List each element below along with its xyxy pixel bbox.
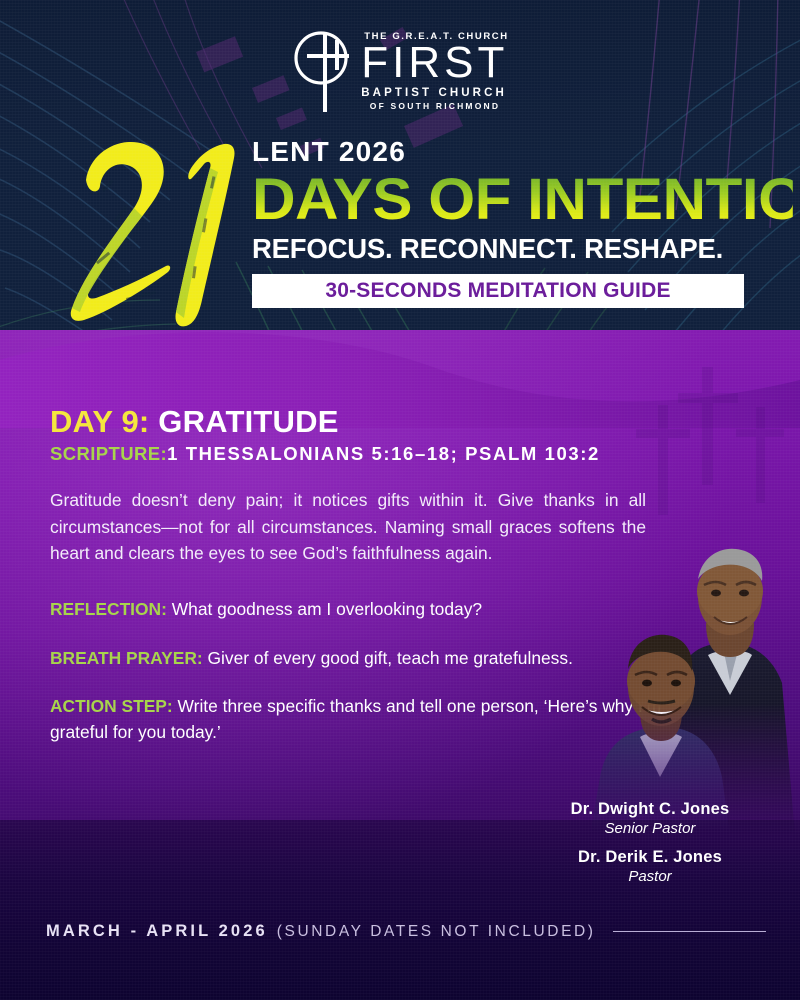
devotional-content: DAY 9: GRATITUDE SCRIPTURE:1 THESSALONIA… [50, 405, 670, 745]
breath-prayer-text: Giver of every good gift, teach me grate… [208, 648, 573, 668]
pastor-name-1: Dr. Dwight C. Jones [520, 800, 780, 819]
scripture-label: SCRIPTURE: [50, 443, 167, 464]
meditation-banner: 30-SECONDS MEDITATION GUIDE [252, 274, 744, 308]
pastor-name-2: Dr. Derik E. Jones [520, 848, 780, 867]
devotional-paragraph: Gratitude doesn’t deny pain; it notices … [50, 487, 646, 566]
meditation-banner-text: 30-SECONDS MEDITATION GUIDE [325, 279, 670, 303]
reflection-text: What goodness am I overlooking today? [172, 599, 482, 619]
pastor-role-1: Senior Pastor [520, 820, 780, 837]
main-title: DAYS OF INTENTION [252, 170, 793, 229]
logo-line3: OF SOUTH RICHMOND [370, 101, 500, 111]
pastor-photos [590, 505, 800, 835]
logo-name: FIRST [361, 43, 508, 83]
footer-rule [613, 931, 766, 933]
scripture-reference: 1 THESSALONIANS 5:16–18; PSALM 103:2 [167, 443, 600, 464]
section-reflection: REFLECTION: What goodness am I overlooki… [50, 596, 670, 622]
poster: THE G.R.E.A.T. CHURCH FIRST BAPTIST CHUR… [0, 0, 800, 1000]
number-21-brush [62, 128, 257, 333]
church-logo: THE G.R.E.A.T. CHURCH FIRST BAPTIST CHUR… [0, 28, 800, 114]
day-label: DAY 9: [50, 404, 149, 439]
season-label: LENT 2026 [252, 136, 772, 168]
breath-prayer-label: BREATH PRAYER: [50, 648, 203, 668]
footer-note: (SUNDAY DATES NOT INCLUDED) [277, 923, 596, 941]
cross-logo-icon [291, 28, 363, 114]
footer: MARCH - APRIL 2026 (SUNDAY DATES NOT INC… [46, 922, 766, 941]
pastor-names: Dr. Dwight C. Jones Senior Pastor Dr. De… [520, 800, 780, 885]
day-topic: GRATITUDE [158, 404, 338, 439]
headline-block: LENT 2026 DAYS OF INTENTION REFOCUS. REC… [252, 136, 772, 308]
footer-dates: MARCH - APRIL 2026 [46, 922, 268, 941]
section-breath-prayer: BREATH PRAYER: Giver of every good gift,… [50, 645, 670, 671]
pastor-role-2: Pastor [520, 868, 780, 885]
reflection-label: REFLECTION: [50, 599, 167, 619]
day-title: DAY 9: GRATITUDE [50, 405, 670, 439]
scripture-line: SCRIPTURE:1 THESSALONIANS 5:16–18; PSALM… [50, 443, 670, 465]
action-step-label: ACTION STEP: [50, 696, 173, 716]
section-action-step: ACTION STEP: Write three specific thanks… [50, 693, 670, 745]
logo-line2: BAPTIST CHURCH [361, 87, 507, 99]
subtitle: REFOCUS. RECONNECT. RESHAPE. [252, 233, 772, 265]
